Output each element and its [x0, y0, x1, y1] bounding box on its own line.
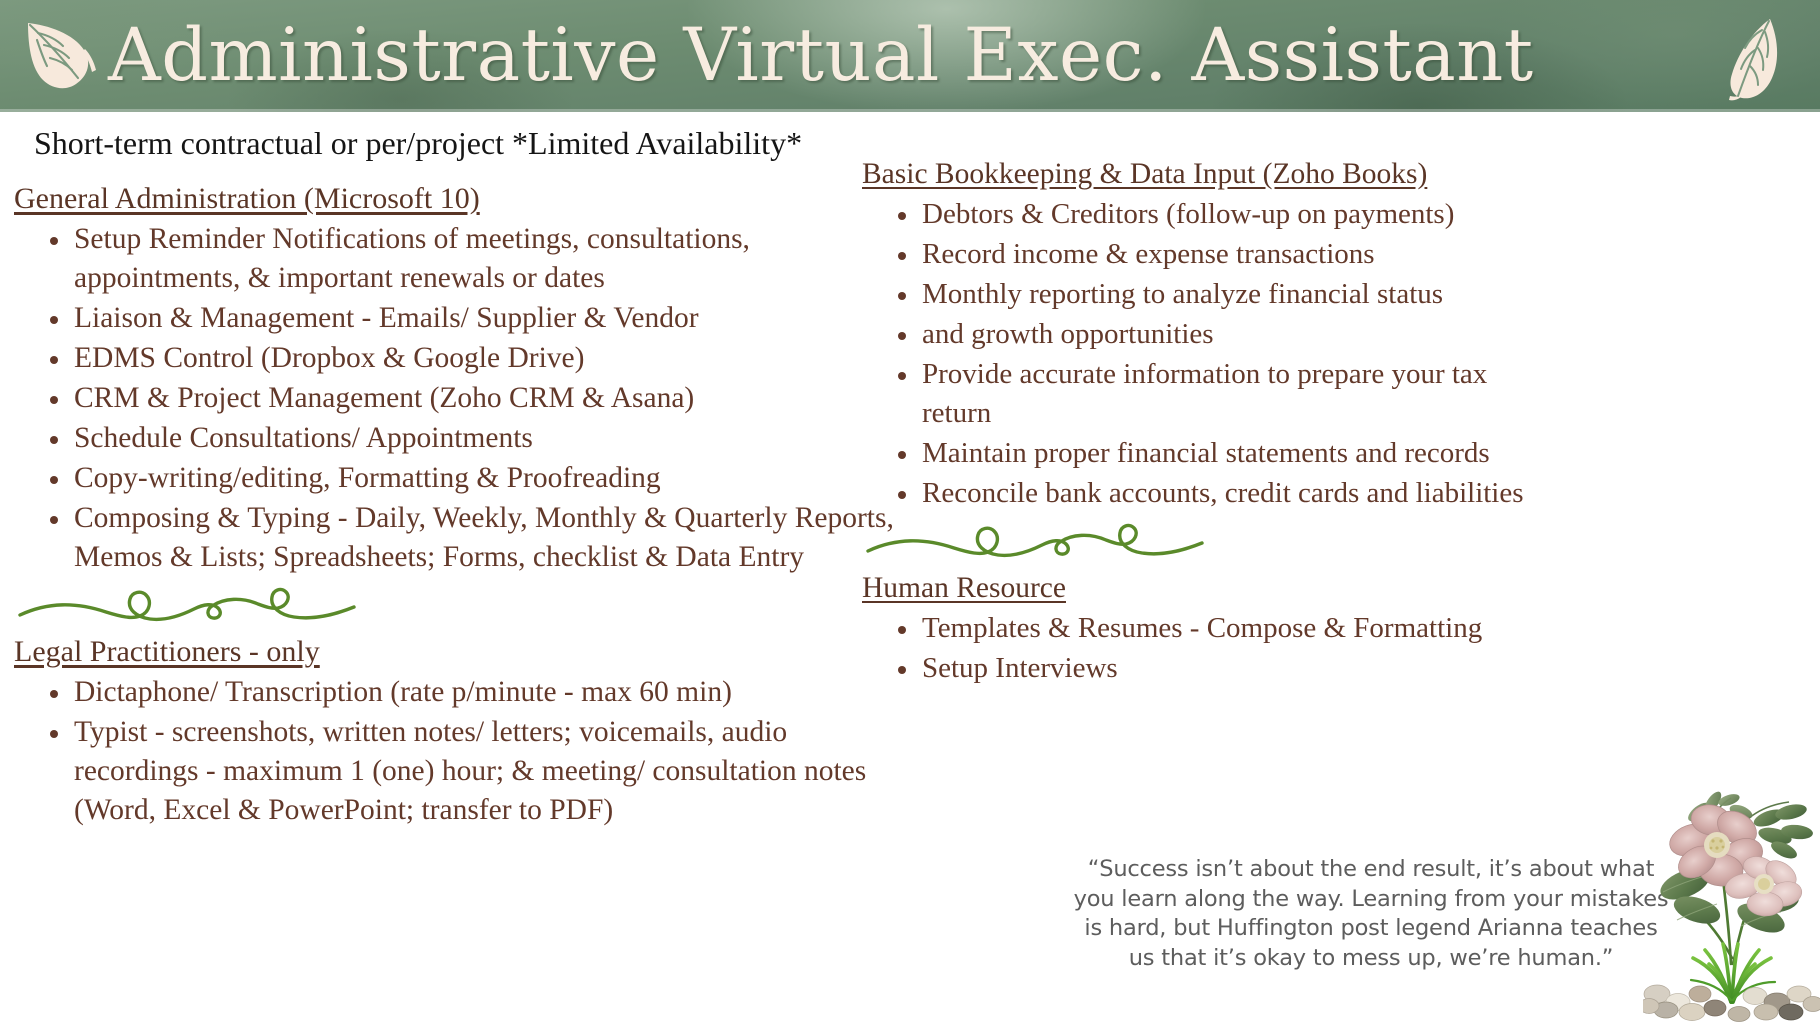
section-heading: Basic Bookkeeping & Data Input (Zoho Boo… [862, 155, 1562, 193]
page-title: Administrative Virtual Exec. Assistant [108, 8, 1534, 104]
feather-icon [1724, 16, 1788, 107]
section-human-resource: Human Resource Templates & Resumes - Com… [862, 569, 1562, 688]
bullet-list: Debtors & Creditors (follow-up on paymen… [862, 195, 1562, 513]
list-item: Setup Reminder Notifications of meetings… [44, 220, 894, 298]
section-general-administration: General Administration (Microsoft 10) Se… [14, 180, 894, 577]
list-item: Liaison & Management - Emails/ Supplier … [44, 299, 894, 338]
right-column: Basic Bookkeeping & Data Input (Zoho Boo… [862, 155, 1562, 689]
header-banner: Administrative Virtual Exec. Assistant [0, 0, 1820, 112]
list-item: Schedule Consultations/ Appointments [44, 419, 894, 458]
section-heading: Legal Practitioners - only [14, 633, 894, 671]
list-item: Setup Interviews [892, 649, 1562, 688]
list-item: Record income & expense transactions [892, 235, 1562, 274]
section-basic-bookkeeping: Basic Bookkeeping & Data Input (Zoho Boo… [862, 155, 1562, 513]
list-item: Maintain proper financial statements and… [892, 434, 1562, 473]
list-item: Monthly reporting to analyze financial s… [892, 275, 1562, 314]
section-legal-practitioners: Legal Practitioners - only Dictaphone/ T… [14, 633, 894, 830]
left-column: General Administration (Microsoft 10) Se… [14, 180, 894, 831]
list-item: EDMS Control (Dropbox & Google Drive) [44, 339, 894, 378]
section-heading: Human Resource [862, 569, 1562, 607]
section-heading: General Administration (Microsoft 10) [14, 180, 894, 218]
list-item: Provide accurate information to prepare … [892, 355, 1562, 433]
list-item: Templates & Resumes - Compose & Formatti… [892, 609, 1562, 648]
bullet-list: Templates & Resumes - Compose & Formatti… [862, 609, 1562, 688]
list-item: Reconcile bank accounts, credit cards an… [892, 474, 1562, 513]
bullet-list: Dictaphone/ Transcription (rate p/minute… [14, 673, 894, 830]
list-item: Debtors & Creditors (follow-up on paymen… [892, 195, 1562, 234]
feather-icon [22, 20, 100, 97]
swirl-divider-icon [14, 583, 894, 629]
list-item: Copy-writing/editing, Formatting & Proof… [44, 459, 894, 498]
list-item: and growth opportunities [892, 315, 1562, 354]
list-item: CRM & Project Management (Zoho CRM & Asa… [44, 379, 894, 418]
inspirational-quote: “Success isn’t about the end result, it’… [1072, 855, 1670, 973]
list-item: Dictaphone/ Transcription (rate p/minute… [44, 673, 894, 712]
swirl-divider-icon [862, 519, 1562, 565]
availability-subtitle: Short-term contractual or per/project *L… [34, 123, 802, 163]
list-item: Composing & Typing - Daily, Weekly, Mont… [44, 499, 894, 577]
bullet-list: Setup Reminder Notifications of meetings… [14, 220, 894, 577]
list-item: Typist - screenshots, written notes/ let… [44, 713, 894, 830]
